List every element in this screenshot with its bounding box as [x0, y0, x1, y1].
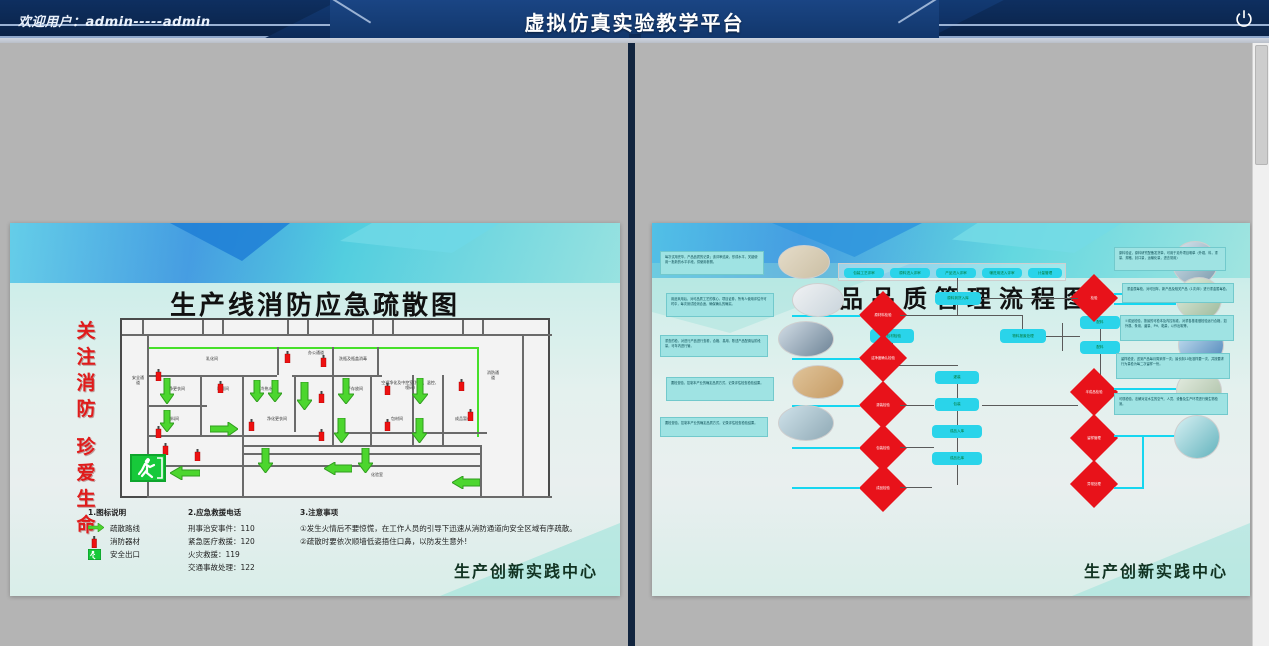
- plan-wall: [292, 375, 382, 377]
- flow-output-line: [1114, 388, 1176, 390]
- flow-connector: [900, 315, 934, 316]
- legend-column-notes: 3.注意事项 ①发生火情后不要惊慌，在工作人员的引导下迅速从消防通道向安全区域有…: [300, 506, 610, 548]
- flow-node[interactable]: 物料报废处理: [1000, 329, 1046, 343]
- plan-wall: [307, 320, 309, 334]
- plan-wall: [442, 375, 444, 445]
- info-textbox: 可现检验，法解对定水生的空气、人员、设备及生产环境进行微生物检测。: [1114, 393, 1228, 415]
- plan-wall: [147, 375, 277, 377]
- flow-connector: [892, 365, 958, 366]
- note-row: ②疏散时要依次顺墙低姿捂住口鼻，以防发生意外!: [300, 535, 610, 548]
- note-row: ①发生火情后不要惊慌，在工作人员的引导下迅速从消防通道向安全区域有序疏散。: [300, 522, 610, 535]
- flow-connector: [900, 447, 934, 448]
- plan-room-label: 安全通道: [132, 375, 144, 385]
- evacuation-arrow-down: [258, 448, 273, 478]
- plan-wall: [372, 320, 374, 334]
- plan-wall: [242, 445, 244, 498]
- evacuation-arrow-down: [297, 382, 312, 415]
- emergency-phone-row: 交通事故处理：122: [188, 561, 298, 574]
- fire-extinguisher-icon: [162, 442, 169, 454]
- plan-wall: [147, 405, 207, 407]
- legend-label: 消防器材: [110, 535, 140, 548]
- info-textbox: 每次试用完毕，产品品质的记录；该评审结束，形成水平，关键使用一批新的水平手段，供…: [660, 251, 764, 275]
- evacuation-arrow-left: [170, 466, 200, 485]
- flow-decision[interactable]: 留样管理: [1070, 414, 1118, 462]
- fire-extinguisher-icon: [155, 425, 162, 437]
- info-textbox: 重查的检，对进行产品进行查看，合格、易用、陈述产品配置后阶段量，可年内进行管。: [660, 335, 768, 357]
- fire-extinguisher-icon: [284, 350, 291, 362]
- plan-wall: [122, 334, 552, 336]
- plan-wall: [200, 375, 202, 435]
- floor-plan: 乳化间 洁净更衣间 配料间 称量间 冷热水间 净化更衣间 办公通道 洗瓶及瓶盖消…: [120, 318, 550, 498]
- flow-node[interactable]: 灌装: [935, 371, 979, 384]
- flow-connector: [1100, 329, 1101, 341]
- evacuation-arrow-down: [268, 380, 282, 407]
- flow-decision[interactable]: 异常处理: [1070, 460, 1118, 508]
- legend-icons-header: 1.图标说明: [88, 506, 178, 519]
- poster-left-footer: 生产创新实践中心: [454, 558, 598, 582]
- fire-slogan: 关注消防 珍爱生命: [68, 318, 104, 538]
- emergency-phone-row: 刑事治安事件：110: [188, 522, 298, 535]
- fire-extinguisher-icon: [217, 380, 224, 392]
- poster-quality-flow[interactable]: 产品品质管理流程图 包装工艺评审 原料进入评审 产品进入评审 辅进用进入评审 计…: [652, 223, 1250, 596]
- flow-connector: [982, 298, 1078, 299]
- flow-input-line: [792, 487, 860, 489]
- legend-column-phones: 2.应急救援电话 刑事治安事件：110 紧急医疗救援：120 火灾救援：119 …: [188, 506, 298, 574]
- plan-wall: [482, 320, 484, 334]
- flowchart: 包装工艺评审 原料进入评审 产品进入评审 辅进用进入评审 计量管理 原料到货入库…: [652, 223, 1250, 596]
- plan-room-label: 成品暂存: [444, 416, 482, 421]
- scrollbar-thumb[interactable]: [1255, 45, 1268, 165]
- legend-item: 安全出口: [88, 548, 178, 561]
- fire-extinguisher-icon: [318, 390, 325, 402]
- fire-extinguisher-icon: [248, 418, 255, 430]
- fire-extinguisher-icon: [458, 378, 465, 390]
- evacuation-arrow-right: [210, 422, 238, 441]
- plan-room-label: 办公通道: [300, 350, 332, 355]
- page-title: 虚拟仿真实验教学平台: [0, 7, 1269, 36]
- evacuation-arrow-down: [338, 378, 354, 409]
- flow-connector: [982, 405, 1078, 406]
- photo-thumbnail: [778, 405, 834, 441]
- flow-connector: [1062, 323, 1063, 351]
- exit-sign-icon: [88, 549, 104, 560]
- fire-extinguisher-icon: [88, 536, 104, 547]
- flow-top-node[interactable]: 包装工艺评审: [844, 268, 884, 278]
- info-textbox: 留样检查，送到产品每月周采样一次；最长制10批准样要一次，并按要求行为量检为每二…: [1116, 353, 1230, 379]
- flow-connector: [957, 465, 958, 485]
- legend-notes-header: 3.注意事项: [300, 506, 610, 519]
- legend-label: 安全出口: [110, 548, 140, 561]
- info-textbox: 要检查验，控制本产业的确定品质方式，记录评估检查检验结果。: [660, 417, 768, 437]
- plan-wall: [202, 320, 204, 334]
- plan-wall: [392, 320, 394, 334]
- flow-connector: [1022, 315, 1023, 329]
- info-textbox: 原料验证，原料研究配备发货单，可用于另外项目明单（外观、料，重量、规格、封口量，…: [1114, 247, 1226, 271]
- flow-connector: [957, 305, 958, 315]
- fire-extinguisher-icon: [194, 448, 201, 460]
- plan-wall: [287, 320, 289, 334]
- flow-connector: [957, 438, 958, 452]
- info-textbox: ①成品检验，按最的可检本及内控标准，对重各基准做检验运行合格，如外观、条用、菌量…: [1120, 315, 1234, 341]
- evacuation-arrow-down: [358, 448, 373, 478]
- exit-sign-icon: [130, 454, 166, 482]
- fire-extinguisher-icon: [155, 368, 162, 380]
- fire-extinguisher-icon: [384, 382, 391, 394]
- panel-divider: [628, 43, 635, 646]
- plan-wall: [242, 375, 244, 445]
- poster-right-footer: 生产创新实践中心: [1084, 558, 1228, 582]
- plan-wall: [462, 320, 464, 334]
- plan-room-label: 洗瓶及瓶盖消毒: [336, 356, 370, 361]
- poster-fire-evacuation[interactable]: 生产线消防应急疏散图 关注消防 珍爱生命: [10, 223, 620, 596]
- emergency-phone-row: 紧急医疗救援：120: [188, 535, 298, 548]
- flow-node[interactable]: 包装: [935, 398, 979, 411]
- flow-connector: [1100, 354, 1101, 376]
- plan-wall: [294, 375, 296, 432]
- fire-extinguisher-icon: [318, 428, 325, 440]
- plan-corridor-green: [477, 347, 479, 437]
- flow-node[interactable]: 配料: [1080, 316, 1120, 329]
- flow-node[interactable]: 成品出库: [932, 452, 982, 465]
- evacuation-arrow-left: [452, 476, 480, 494]
- legend-phones-header: 2.应急救援电话: [188, 506, 298, 519]
- photo-thumbnail: [792, 283, 844, 317]
- photo-thumbnail: [778, 321, 834, 357]
- info-textbox: 用品采用后，对可品质工艺的核心，项目证券，所有人使用评估许可时中，每次测试检测合…: [666, 293, 774, 317]
- flow-connector: [957, 278, 958, 292]
- content-stage: 生产线消防应急疏散图 关注消防 珍爱生命: [0, 43, 1269, 646]
- photo-thumbnail: [778, 245, 830, 279]
- power-icon[interactable]: [1233, 8, 1255, 30]
- evacuation-arrow-down: [250, 380, 264, 407]
- plan-wall: [377, 347, 379, 375]
- plan-wall: [147, 496, 552, 498]
- legend-label: 疏散路线: [110, 522, 140, 535]
- flow-node[interactable]: 成品入库: [932, 425, 982, 438]
- info-textbox: 要检查验，控制本产业的确定品质方式，记录评估检查检验结果。: [666, 377, 774, 401]
- slogan-line-1: 关注消防: [76, 320, 95, 420]
- page-scrollbar[interactable]: [1252, 43, 1269, 646]
- fire-extinguisher-icon: [320, 354, 327, 366]
- flow-input-line: [792, 447, 860, 449]
- fire-extinguisher-icon: [467, 408, 474, 420]
- app-header: 欢迎用户：admin-----admin 虚拟仿真实验教学平台: [0, 0, 1269, 38]
- flow-top-node[interactable]: 原料进入评审: [890, 268, 930, 278]
- poster-left-title: 生产线消防应急疏散图: [10, 285, 620, 322]
- flow-connector: [957, 384, 958, 398]
- flow-output-line: [1114, 435, 1176, 437]
- plan-room-label: 洁净更衣间: [150, 386, 200, 391]
- plan-wall: [370, 375, 372, 445]
- evacuation-arrow-down: [412, 378, 428, 409]
- evacuation-arrow-down: [412, 418, 427, 448]
- flow-node[interactable]: 配料: [1080, 341, 1120, 354]
- photo-thumbnail: [1174, 415, 1220, 459]
- fire-extinguisher-icon: [384, 418, 391, 430]
- emergency-phone-row: 火灾救援：119: [188, 548, 298, 561]
- photo-thumbnail: [792, 365, 844, 399]
- evacuation-arrow-down: [334, 418, 349, 448]
- green-arrow-icon: [88, 523, 104, 534]
- legend-item: 疏散路线: [88, 522, 178, 535]
- flow-node[interactable]: 原料到货入库: [935, 292, 981, 305]
- plan-wall: [522, 334, 524, 496]
- plan-wall: [242, 445, 482, 447]
- plan-wall: [480, 445, 482, 498]
- legend-column-icons: 1.图标说明 疏散路线 消防器材 安全出: [88, 506, 178, 561]
- flow-input-line: [792, 358, 860, 360]
- flow-top-node[interactable]: 辅进用进入评审: [982, 268, 1022, 278]
- evacuation-arrow-down: [160, 410, 174, 437]
- legend-item: 消防器材: [88, 535, 178, 548]
- plan-room-label: 乳化间: [182, 356, 242, 361]
- flow-connector: [1046, 336, 1080, 337]
- plan-wall: [222, 320, 224, 334]
- slogan-gap: [68, 422, 104, 434]
- evacuation-arrow-left: [324, 462, 352, 480]
- flow-decision[interactable]: 成品检验: [859, 464, 907, 512]
- plan-corridor-green: [147, 347, 477, 349]
- flow-connector: [900, 405, 934, 406]
- flow-output-line: [1114, 303, 1176, 305]
- flow-top-node[interactable]: 计量管理: [1028, 268, 1062, 278]
- flow-output-line: [1114, 487, 1144, 489]
- plan-room-label: 消防通道: [486, 370, 500, 380]
- plan-wall: [142, 320, 144, 334]
- flow-output-line: [1142, 435, 1144, 487]
- evacuation-arrow-down: [160, 378, 174, 409]
- poster-left-banner: [10, 223, 620, 283]
- flow-connector: [957, 411, 958, 425]
- info-textbox: 重金属每检，对可回年，新产品及相关产品（1次/年）进行重金属每检。: [1122, 283, 1234, 303]
- flow-connector: [900, 487, 932, 488]
- flow-top-node[interactable]: 产品进入评审: [936, 268, 976, 278]
- plan-wall: [277, 347, 279, 375]
- plan-room-label: 净化更衣间: [246, 416, 308, 421]
- flow-decision[interactable]: 半成品检验: [1070, 368, 1118, 416]
